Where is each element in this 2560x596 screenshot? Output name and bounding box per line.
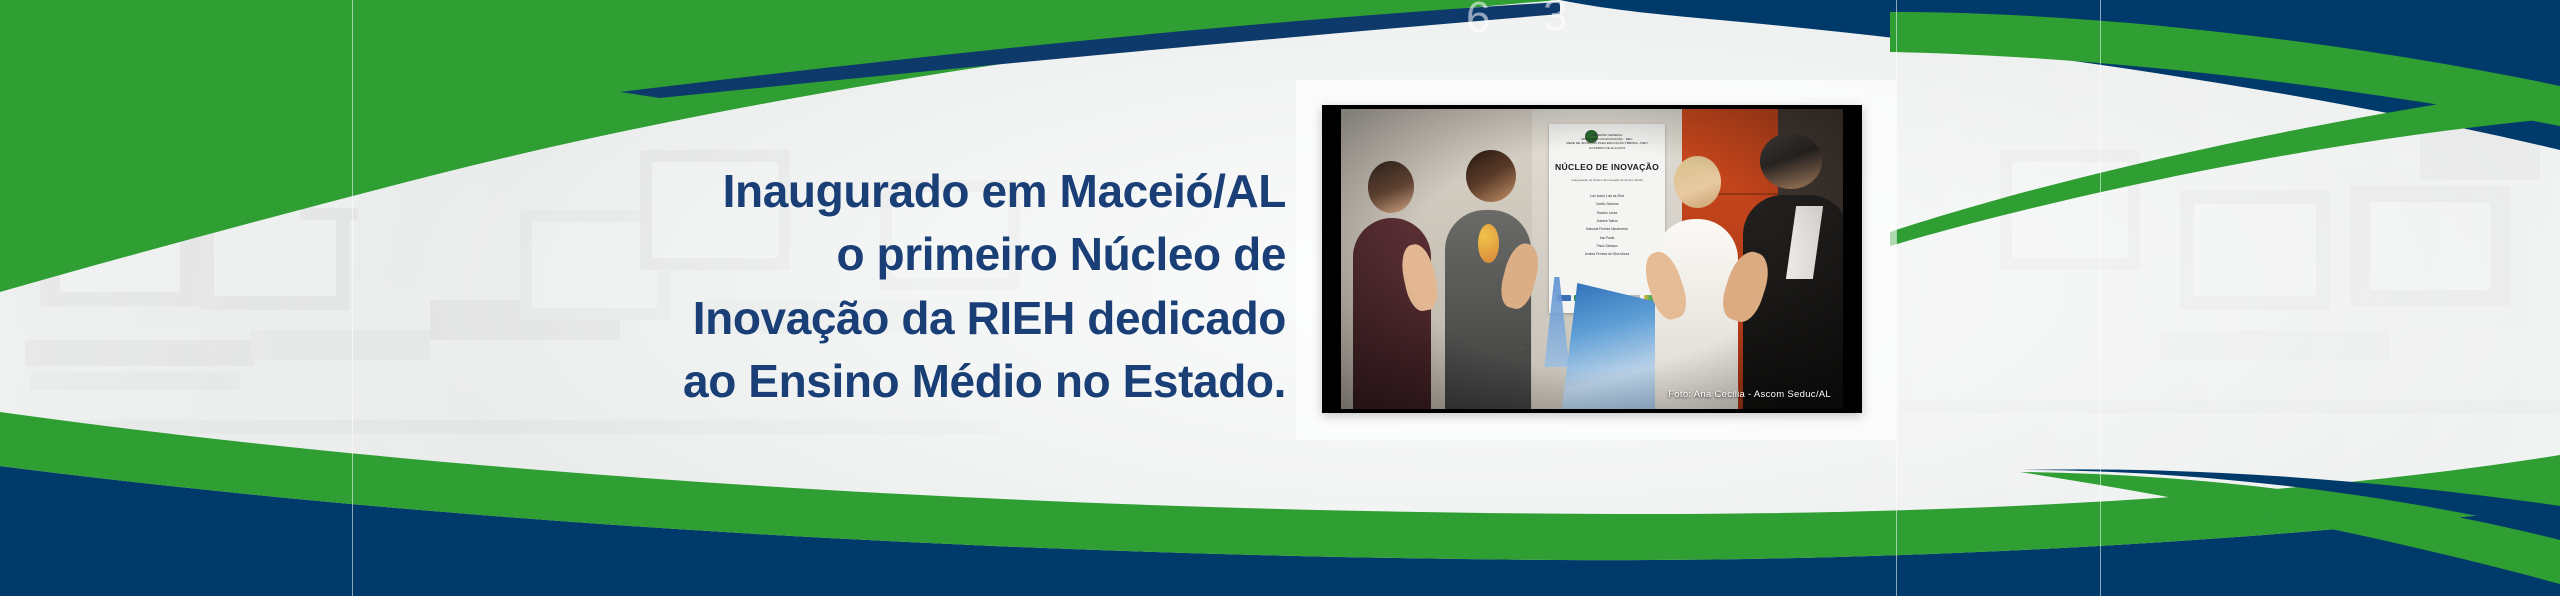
plaque-name-7: Paulo Dâmaso — [1556, 242, 1658, 250]
plaque-name-1: Luiz Inácio Lula da Silva — [1556, 192, 1658, 200]
plaque-names: Luiz Inácio Lula da Silva Camilo Santana… — [1556, 192, 1658, 259]
background-divider-left — [352, 0, 353, 596]
plaque-name-2: Camilo Santana — [1556, 200, 1658, 208]
headline-line-1: Inaugurado em Maceió/AL — [560, 160, 1286, 223]
banner-root: 6 3 Inaugurado em Maceió/AL o primeiro N… — [0, 0, 2560, 596]
scene-person-2 — [1441, 133, 1536, 409]
plaque-name-8: Andrea Ferreira da Silva Moura — [1556, 250, 1658, 258]
plaque-name-6: Iran Padia — [1556, 234, 1658, 242]
headline-line-4: ao Ensino Médio no Estado. — [560, 350, 1286, 413]
background-divider-mid — [1896, 0, 1897, 596]
event-photo: GOVERNO FEDERAL MINISTÉRIO DA EDUCAÇÃO -… — [1322, 105, 1862, 413]
background-divider-right — [2100, 0, 2101, 596]
headline: Inaugurado em Maceió/AL o primeiro Núcle… — [560, 160, 1286, 414]
ghost-digit-3: 3 — [1543, 0, 1567, 38]
plaque-header: GOVERNO FEDERAL MINISTÉRIO DA EDUCAÇÃO -… — [1559, 133, 1656, 151]
headline-line-3: Inovação da RIEH dedicado — [560, 287, 1286, 350]
plaque-name-3: Ricardo Lessa — [1556, 209, 1658, 217]
scene-necklace — [1478, 224, 1499, 263]
headline-line-2: o primeiro Núcleo de — [560, 223, 1286, 286]
plaque-header-line-4: GOVERNO DE ALAGOAS — [1559, 146, 1656, 150]
plaque-name-4: Jeanine Taibos — [1556, 217, 1658, 225]
scene-person-4 — [1743, 127, 1843, 409]
plaque-subtitle: Inauguração do Núcleo de Inovação do Ens… — [1561, 178, 1653, 182]
scene-person-1 — [1351, 151, 1436, 409]
wave-top-right-green — [1890, 86, 2560, 246]
ghost-digit-6: 6 — [1466, 0, 1490, 40]
photo-credit: Foto: Ana Cecilia - Ascom Seduc/AL — [1668, 389, 1831, 400]
plaque-title: NÚCLEO DE INOVAÇÃO — [1554, 162, 1660, 172]
plaque-name-5: Manuela Ferreira Nascimento — [1556, 225, 1658, 233]
event-photo-scene: GOVERNO FEDERAL MINISTÉRIO DA EDUCAÇÃO -… — [1341, 109, 1843, 409]
